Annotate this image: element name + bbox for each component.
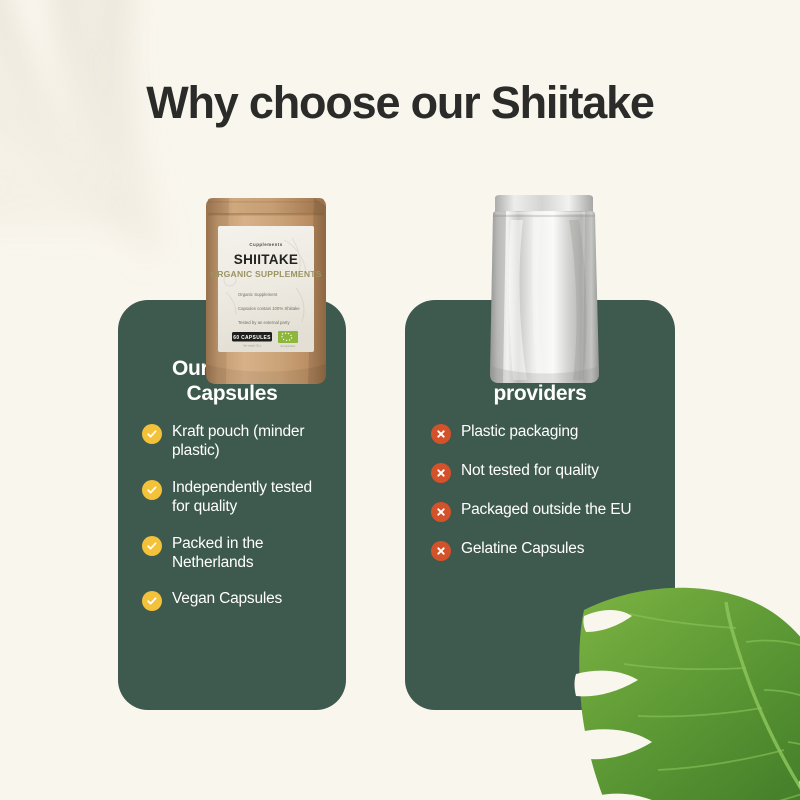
list-item-label: Packed in the Netherlands	[172, 534, 330, 573]
list-item: Not tested for quality	[431, 461, 661, 483]
list-item-label: Vegan Capsules	[172, 589, 282, 608]
pouch-claim: Organic Supplement	[238, 292, 278, 297]
check-circle-icon	[142, 424, 162, 444]
cross-circle-icon	[431, 463, 451, 483]
check-circle-icon	[142, 480, 162, 500]
feature-list-others: Plastic packaging Not tested for quality…	[405, 422, 675, 578]
list-item-label: Not tested for quality	[461, 461, 599, 480]
list-item-label: Gelatine Capsules	[461, 539, 584, 558]
list-item: Plastic packaging	[431, 422, 661, 444]
page-title: Why choose our Shiitake	[0, 78, 800, 128]
list-item: Gelatine Capsules	[431, 539, 661, 561]
list-item: Vegan Capsules	[142, 589, 330, 611]
cross-circle-icon	[431, 541, 451, 561]
cross-circle-icon	[431, 502, 451, 522]
pouch-claim: Tested by an external party	[238, 320, 290, 325]
product-pouch-silver	[473, 190, 613, 388]
list-item: Kraft pouch (minder plastic)	[142, 422, 330, 461]
pouch-claim: Capsules contain 100% Shiitake	[238, 306, 300, 311]
svg-text:EU Agriculture: EU Agriculture	[281, 345, 296, 348]
pouch-count-label: 60 CAPSULES	[233, 335, 271, 341]
list-item-label: Kraft pouch (minder plastic)	[172, 422, 330, 461]
svg-text:Net weight 30 g: Net weight 30 g	[243, 344, 262, 348]
feature-list-ours: Kraft pouch (minder plastic) Independent…	[118, 422, 346, 628]
list-item: Packaged outside the EU	[431, 500, 661, 522]
product-pouch-kraft: Cupplements SHIITAKE ORGANIC SUPPLEMENTS…	[196, 188, 336, 388]
list-item: Independently tested for quality	[142, 478, 330, 517]
list-item-label: Packaged outside the EU	[461, 500, 631, 519]
check-circle-icon	[142, 536, 162, 556]
promo-canvas: Why choose our Shiitake Our Shiitake Cap…	[0, 0, 800, 800]
list-item: Packed in the Netherlands	[142, 534, 330, 573]
check-circle-icon	[142, 591, 162, 611]
list-item-label: Plastic packaging	[461, 422, 578, 441]
pouch-product-name: SHIITAKE	[234, 252, 298, 267]
eu-organic-leaf-icon	[278, 331, 298, 343]
list-item-label: Independently tested for quality	[172, 478, 330, 517]
pouch-subtitle: ORGANIC SUPPLEMENTS	[210, 269, 321, 279]
pouch-brand: Cupplements	[249, 242, 282, 247]
cross-circle-icon	[431, 424, 451, 444]
